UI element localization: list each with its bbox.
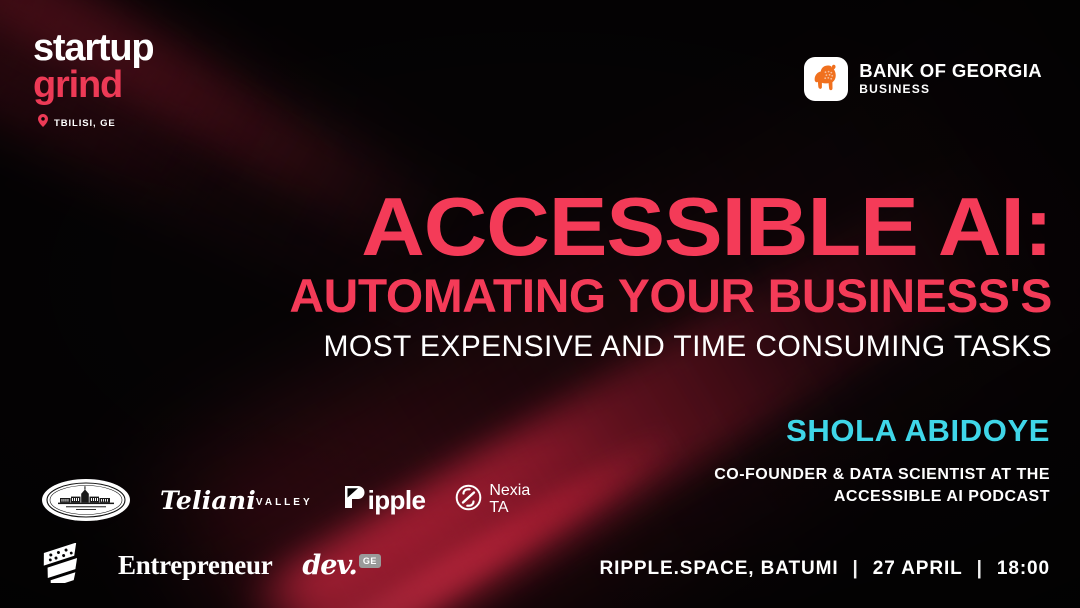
sponsor-flag-badge: [42, 543, 88, 588]
sponsor-row-1: Teliani VALLEY ipple: [42, 479, 530, 521]
sponsor-gov-badge: [42, 479, 130, 521]
speaker-name: SHOLA ABIDOYE: [714, 415, 1050, 446]
event-details: RIPPLE.SPACE, BATUMI | 27 APRIL | 18:00: [600, 558, 1050, 580]
event-venue: RIPPLE.SPACE, BATUMI: [600, 558, 839, 580]
sponsor-nexia-ta: Nexia TA: [455, 483, 530, 516]
bank-of-georgia-name: BANK OF GEORGIA: [859, 61, 1042, 82]
teliani-wordmark: Teliani: [160, 488, 256, 513]
sponsor-ripple: ipple: [343, 485, 426, 516]
details-separator-2: |: [977, 558, 983, 580]
ripple-wordmark: ipple: [368, 485, 426, 516]
sponsor-logos: Teliani VALLEY ipple: [42, 479, 530, 588]
nexia-mark-icon: [455, 484, 482, 516]
sponsor-dev-ge: dev. GE: [302, 550, 380, 581]
logo-text-startup: startup: [33, 30, 153, 66]
nexia-line-1: Nexia: [489, 483, 530, 500]
details-separator-1: |: [853, 558, 859, 580]
devge-country-badge: GE: [359, 554, 381, 568]
bank-of-georgia-sub: BUSINESS: [859, 83, 1042, 96]
dog-icon: [804, 57, 848, 101]
speaker-role: CO-FOUNDER & DATA SCIENTIST AT THE ACCES…: [714, 464, 1050, 507]
headline-block: ACCESSIBLE AI: AUTOMATING YOUR BUSINESS'…: [0, 186, 1052, 363]
logo-text-grind: grind: [33, 66, 153, 104]
devge-wordmark: dev.: [302, 550, 356, 581]
sponsor-teliani-valley: Teliani VALLEY: [160, 488, 313, 513]
speaker-block: SHOLA ABIDOYE CO-FOUNDER & DATA SCIENTIS…: [714, 415, 1050, 507]
checkered-flag-icon: [42, 543, 88, 588]
ripple-mark-icon: [343, 485, 365, 515]
event-time: 18:00: [997, 558, 1050, 580]
headline-primary: ACCESSIBLE AI:: [0, 186, 1052, 267]
event-poster: startup grind TBILISI, GE: [0, 0, 1080, 608]
startup-grind-logo: startup grind TBILISI, GE: [33, 30, 153, 132]
headline-secondary: AUTOMATING YOUR BUSINESS'S: [0, 271, 1052, 321]
nexia-line-2: TA: [489, 500, 530, 517]
chapter-location-text: TBILISI, GE: [54, 118, 116, 129]
chapter-location: TBILISI, GE: [38, 114, 153, 132]
parliament-building-icon: [42, 479, 130, 521]
map-pin-icon: [38, 114, 48, 132]
teliani-subtext: VALLEY: [256, 497, 313, 508]
sponsor-entrepreneur: Entrepreneur: [118, 550, 272, 581]
sponsor-row-2: Entrepreneur dev. GE: [42, 543, 530, 588]
bank-of-georgia-logo: BANK OF GEORGIA BUSINESS: [804, 57, 1042, 101]
headline-tertiary: MOST EXPENSIVE AND TIME CONSUMING TASKS: [0, 330, 1052, 363]
event-date: 27 APRIL: [873, 558, 963, 580]
